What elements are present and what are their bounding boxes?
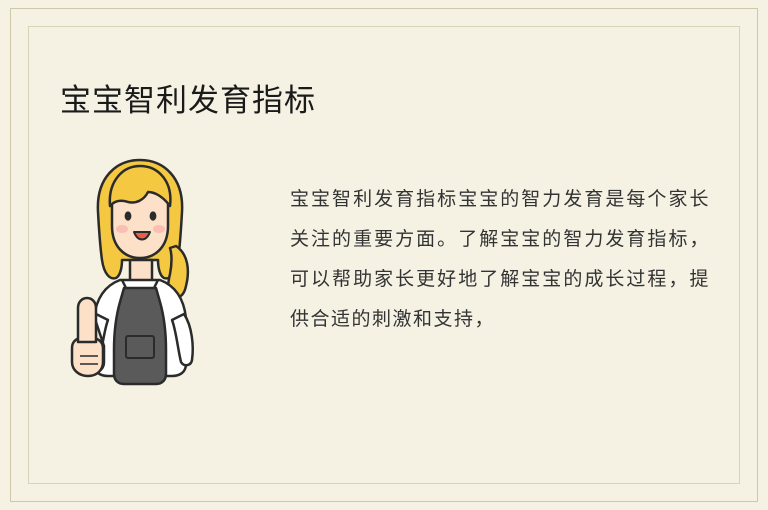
body-paragraph: 宝宝智利发育指标宝宝的智力发育是每个家长关注的重要方面。了解宝宝的智力发育指标，… bbox=[290, 179, 710, 339]
girl-pointing-up-illustration bbox=[60, 150, 220, 400]
document-page: 宝宝智利发育指标 bbox=[0, 0, 768, 510]
page-title: 宝宝智利发育指标 bbox=[60, 81, 316, 121]
content-area: 宝宝智利发育指标宝宝的智力发育是每个家长关注的重要方面。了解宝宝的智力发育指标，… bbox=[60, 140, 708, 450]
